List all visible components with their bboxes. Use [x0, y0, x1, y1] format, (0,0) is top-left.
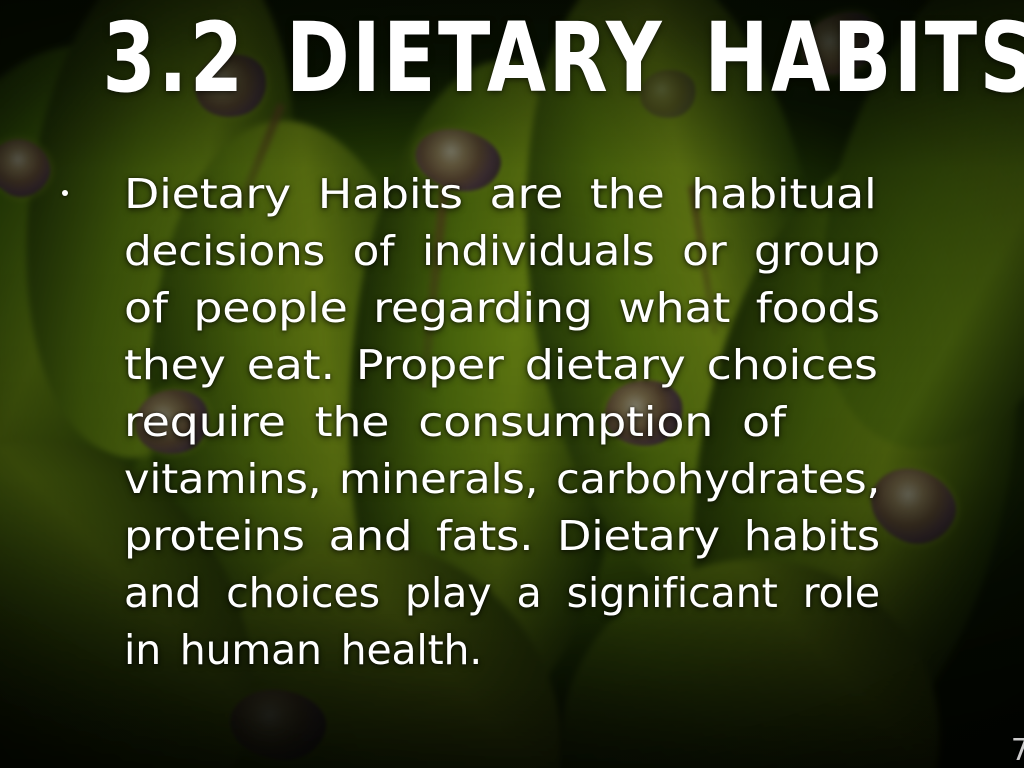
body-text-line: require the consumption of: [124, 394, 882, 451]
slide-content: 3.2 DIETARY HABITS Dietary Habits are th…: [0, 0, 1024, 768]
body-text-line-text: vitamins, minerals, carbohydrates,: [124, 451, 880, 508]
slide-number: 7: [1011, 736, 1024, 766]
body-text-line: decisions of individuals or group: [124, 223, 882, 280]
bullet-point-icon: [62, 190, 68, 196]
presentation-slide: 3.2 DIETARY HABITS Dietary Habits are th…: [0, 0, 1024, 768]
body-text-line: proteins and fats. Dietary habits: [124, 508, 882, 565]
body-text-line-text: decisions of individuals or group: [124, 223, 880, 280]
body-text-line: and choices play a significant role: [124, 565, 882, 622]
body-text-line: in human health.: [124, 622, 882, 679]
body-text-line-text: they eat. Proper dietary choices: [124, 337, 878, 394]
body-text-line-text: Dietary Habits are the habitual: [124, 166, 877, 223]
body-text-line: they eat. Proper dietary choices: [124, 337, 882, 394]
body-text-line-text: require the consumption of: [124, 394, 786, 451]
body-text-line: vitamins, minerals, carbohydrates,: [124, 451, 882, 508]
slide-title: 3.2 DIETARY HABITS: [102, 10, 921, 106]
body-text-line-text: and choices play a significant role: [124, 565, 880, 622]
body-text-line-text: of people regarding what foods: [124, 280, 880, 337]
body-text-block: Dietary Habits are the habitual decision…: [124, 166, 882, 679]
body-text-line: of people regarding what foods: [124, 280, 882, 337]
body-text-line: Dietary Habits are the habitual: [124, 166, 882, 223]
body-text-line-text: proteins and fats. Dietary habits: [124, 508, 880, 565]
body-text-line-text: in human health.: [124, 622, 482, 679]
